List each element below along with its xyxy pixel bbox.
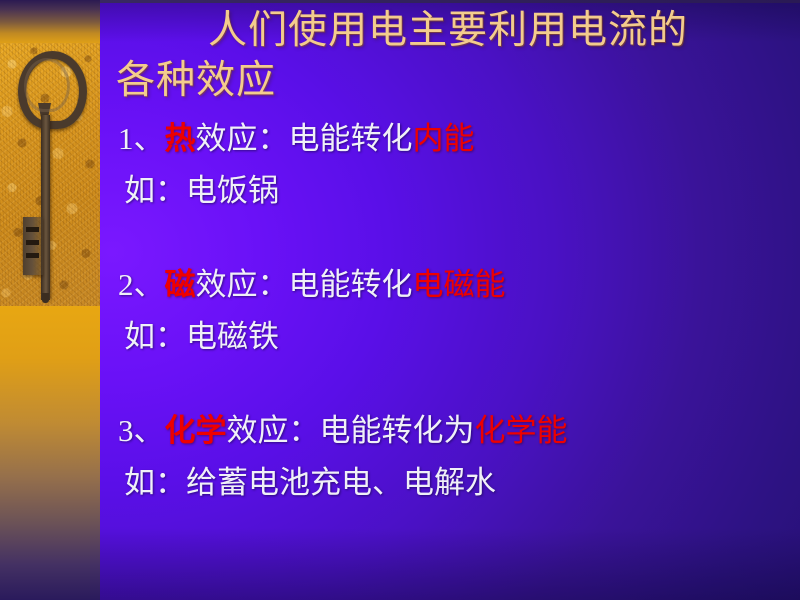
- key-photo-image: [0, 43, 100, 306]
- text-run: 3、: [118, 413, 165, 448]
- text-run: 效应：电能转化为: [227, 413, 475, 448]
- key-tooth-slot-icon: [26, 253, 39, 258]
- text-run: 如：给蓄电池充电、电解水: [124, 465, 496, 500]
- slide-title: 人们使用电主要利用电流的 各种效应: [108, 6, 792, 106]
- effect-example-line: 如：电磁铁: [118, 311, 788, 363]
- highlighted-text-run: 化学能: [475, 413, 568, 448]
- slide-title-line-1: 人们使用电主要利用电流的: [108, 6, 792, 56]
- highlighted-text-run: 磁: [165, 267, 196, 302]
- paragraph-spacer: [118, 217, 788, 259]
- slide-title-line-2: 各种效应: [108, 56, 792, 106]
- text-run: 效应：电能转化: [196, 267, 413, 302]
- text-run: 1、: [118, 121, 165, 156]
- effect-example-line: 如：电饭锅: [118, 165, 788, 217]
- key-bit-icon: [23, 217, 43, 275]
- highlighted-text-run: 内能: [413, 121, 475, 156]
- slide-top-border: [0, 0, 800, 3]
- presentation-slide: 人们使用电主要利用电流的 各种效应 1、热效应：电能转化内能如：电饭锅2、磁效应…: [0, 0, 800, 600]
- effect-heading-line: 2、磁效应：电能转化电磁能: [118, 259, 788, 311]
- highlighted-text-run: 热: [165, 121, 196, 156]
- slide-body: 1、热效应：电能转化内能如：电饭锅2、磁效应：电能转化电磁能如：电磁铁3、化学效…: [118, 113, 788, 509]
- text-run: 如：电饭锅: [124, 173, 279, 208]
- paragraph-spacer: [118, 363, 788, 405]
- effect-heading-line: 3、化学效应：电能转化为化学能: [118, 405, 788, 457]
- key-tooth-slot-icon: [26, 240, 39, 245]
- text-run: 如：电磁铁: [124, 319, 279, 354]
- effect-heading-line: 1、热效应：电能转化内能: [118, 113, 788, 165]
- sidebar-bottom-fade: [0, 305, 100, 600]
- effect-example-line: 如：给蓄电池充电、电解水: [118, 457, 788, 509]
- text-run: 效应：电能转化: [196, 121, 413, 156]
- key-bow-highlight-icon: [24, 58, 70, 112]
- sidebar-decoration: [0, 0, 100, 600]
- highlighted-text-run: 化学: [165, 413, 227, 448]
- text-run: 2、: [118, 267, 165, 302]
- sidebar-top-fade: [0, 0, 100, 44]
- key-tip-icon: [42, 293, 49, 303]
- highlighted-text-run: 电磁能: [413, 267, 506, 302]
- key-tooth-slot-icon: [26, 227, 39, 232]
